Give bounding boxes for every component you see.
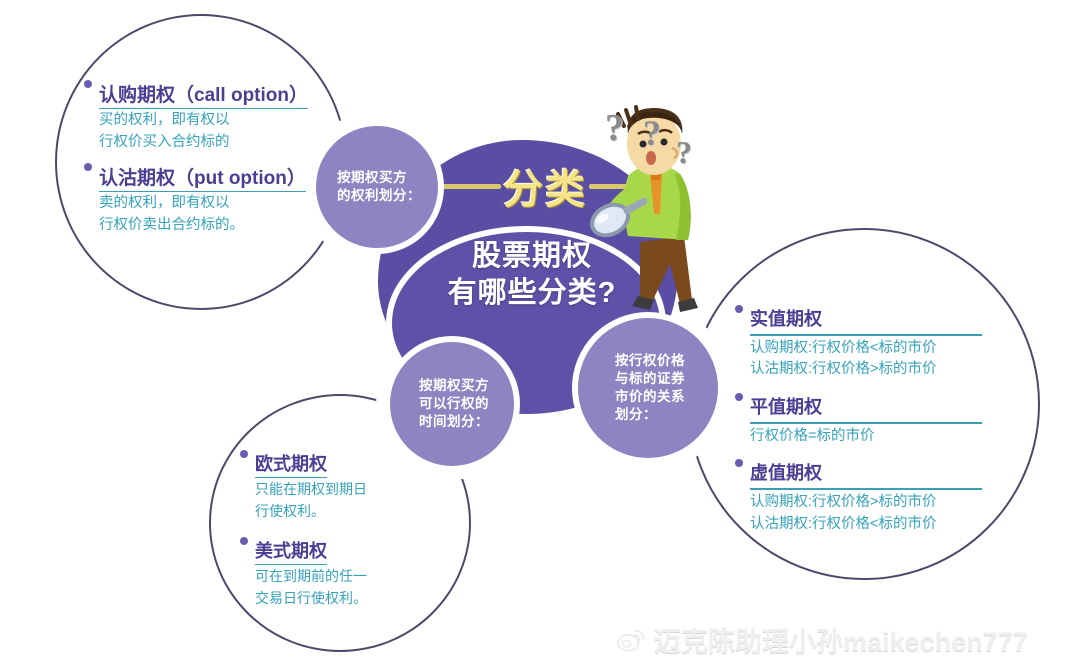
bullet-icon [240, 537, 248, 545]
label-bubble-time[interactable]: 按期权买方 可以行权的 时间划分： [390, 342, 514, 466]
item-desc-line: 认沽期权:行权价格<标的市价 [735, 514, 982, 536]
badge-rule-left [432, 184, 501, 189]
item-heading-text: 实值期权 [750, 305, 822, 332]
question-mark-icon: ? [605, 106, 624, 150]
item-desc-line: 只能在期权到期日 [240, 478, 367, 500]
bubble-strike-line-1: 按行权价格 [615, 352, 685, 370]
list-item: 认购期权（call option） 买的权利，即有权以 行权价买入合约标的 [84, 80, 308, 154]
question-mark-icon: ? [676, 134, 692, 171]
content-group-rights: 认购期权（call option） 买的权利，即有权以 行权价买入合约标的 认沽… [84, 80, 308, 246]
label-bubble-strike-text: 按行权价格 与标的证券 市价的关系 划分： [611, 352, 685, 423]
label-bubble-time-text: 按期权买方 可以行权的 时间划分： [415, 377, 489, 430]
item-heading: 认购期权（call option） [84, 80, 308, 109]
weibo-watermark: 迈克陈助理小孙maikechen777 [616, 620, 1028, 659]
item-heading-text: 认购期权（call option） [99, 80, 308, 109]
bubble-strike-line-3: 市价的关系 [615, 388, 685, 406]
infographic-canvas: 分类 股票期权 有哪些分类? 按期权买方 的权利划分： 按期权买方 可以行权的 … [0, 0, 1077, 665]
bubble-strike-line-2: 与标的证券 [615, 370, 685, 388]
bubble-rights-line-2: 的权利划分： [337, 187, 421, 205]
list-item: 美式期权 可在到期前的任一 交易日行使权利。 [240, 537, 367, 610]
item-heading-text: 认沽期权（put option） [99, 163, 306, 192]
item-heading-text: 虚值期权 [750, 459, 822, 486]
label-bubble-rights[interactable]: 按期权买方 的权利划分： [316, 126, 438, 248]
label-bubble-strike[interactable]: 按行权价格 与标的证券 市价的关系 划分： [578, 318, 718, 458]
heading-rule [750, 334, 982, 336]
item-desc-line: 行权价卖出合约标的。 [84, 214, 308, 236]
item-desc-line: 卖的权利，即有权以 [84, 192, 308, 214]
bullet-icon [84, 163, 92, 171]
item-desc-line: 买的权利，即有权以 [84, 109, 308, 131]
bubble-time-line-2: 可以行权的 [419, 395, 489, 413]
item-heading: 实值期权 [735, 305, 982, 332]
bullet-icon [735, 393, 743, 401]
bullet-icon [240, 450, 248, 458]
item-desc-line: 行权价买入合约标的 [84, 131, 308, 153]
question-mark-icon: ? [643, 112, 661, 154]
item-heading: 虚值期权 [735, 459, 982, 486]
list-item: 平值期权 行权价格=标的市价 [735, 393, 982, 447]
bubble-time-line-3: 时间划分： [419, 413, 489, 431]
bullet-icon [735, 459, 743, 467]
item-desc-line: 认购期权:行权价格<标的市价 [735, 338, 982, 360]
bullet-icon [735, 305, 743, 313]
heading-rule [750, 488, 982, 490]
list-item: 认沽期权（put option） 卖的权利，即有权以 行权价卖出合约标的。 [84, 163, 308, 237]
badge-label: 分类 [501, 157, 589, 215]
label-bubble-rights-text: 按期权买方 的权利划分： [333, 169, 421, 205]
item-heading: 美式期权 [240, 537, 367, 565]
list-item: 实值期权 认购期权:行权价格<标的市价 认沽期权:行权价格>标的市价 [735, 305, 982, 381]
bubble-rights-line-1: 按期权买方 [337, 169, 421, 187]
item-heading: 平值期权 [735, 393, 982, 420]
item-heading-text: 美式期权 [255, 537, 327, 565]
item-desc-line: 交易日行使权利。 [240, 587, 367, 609]
weibo-icon [616, 627, 646, 653]
item-desc-line: 可在到期前的任一 [240, 565, 367, 587]
bubble-time-line-1: 按期权买方 [419, 377, 489, 395]
item-heading: 欧式期权 [240, 450, 367, 478]
item-desc-line: 行权价格=标的市价 [735, 426, 982, 448]
bubble-strike-line-4: 划分： [615, 406, 685, 424]
content-group-moneyness: 实值期权 认购期权:行权价格<标的市价 认沽期权:行权价格>标的市价 平值期权 … [735, 305, 982, 547]
item-desc-line: 认沽期权:行权价格>标的市价 [735, 359, 982, 381]
item-desc-line: 行使权利。 [240, 500, 367, 522]
bullet-icon [84, 80, 92, 88]
item-heading: 认沽期权（put option） [84, 163, 308, 192]
heading-rule [750, 422, 982, 424]
list-item: 欧式期权 只能在期权到期日 行使权利。 [240, 450, 367, 523]
item-heading-text: 欧式期权 [255, 450, 327, 478]
watermark-text: 迈克陈助理小孙maikechen777 [654, 620, 1028, 659]
content-group-time: 欧式期权 只能在期权到期日 行使权利。 美式期权 可在到期前的任一 交易日行使权… [240, 450, 367, 624]
item-desc-line: 认购期权:行权价格>标的市价 [735, 492, 982, 514]
list-item: 虚值期权 认购期权:行权价格>标的市价 认沽期权:行权价格<标的市价 [735, 459, 982, 535]
cartoon-character-illustration: ? ? ? [588, 104, 720, 330]
item-heading-text: 平值期权 [750, 393, 822, 420]
